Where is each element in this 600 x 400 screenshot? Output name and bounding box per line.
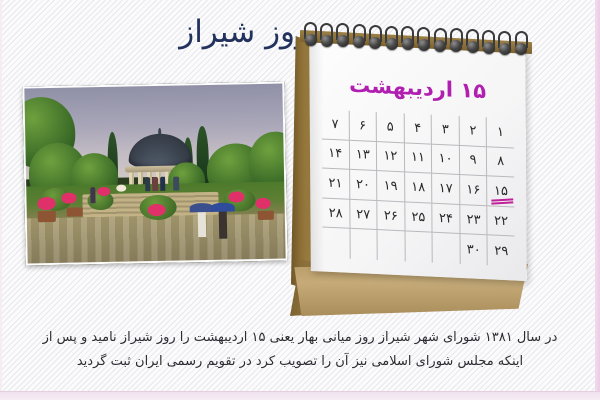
calendar-empty-cell [322, 228, 349, 259]
calendar-day-number: ۱ [497, 125, 504, 140]
calendar-day-number: ۱۷ [439, 181, 453, 197]
photo-flower-pot [67, 207, 83, 216]
spiral-ring [385, 26, 398, 48]
spiral-ring-bead [321, 35, 333, 47]
spiral-ring-bead [515, 43, 527, 55]
calendar-day-number: ۲۰ [356, 177, 370, 193]
calendar-day-cell[interactable]: ۱۹ [376, 171, 404, 202]
spiral-ring [401, 26, 414, 48]
spiral-ring [515, 31, 528, 53]
calendar-day-number: ۱۰ [439, 151, 453, 167]
left-border [0, 0, 2, 400]
calendar-empty-cell [377, 230, 405, 261]
spiral-ring [466, 29, 479, 51]
calendar-day-cell[interactable]: ۲۰ [349, 170, 377, 201]
calendar-day-number: ۱۱ [411, 150, 425, 166]
calendar-day-cell[interactable]: ۲۲ [487, 206, 515, 237]
calendar-day-cell[interactable]: ۷ [322, 109, 349, 140]
calendar-day-cell[interactable]: ۲۶ [376, 201, 404, 232]
calendar-day-number: ۱۹ [384, 178, 398, 194]
calendar-day-cell[interactable]: ۱۳ [348, 140, 376, 171]
photo-flower-pot [258, 211, 274, 220]
calendar-day-number: ۱۴ [328, 146, 342, 162]
calendar-day-number: ۲۷ [356, 207, 370, 223]
calendar-day-cell[interactable]: ۸ [486, 147, 514, 178]
calendar-day-cell[interactable]: ۱۱ [404, 143, 432, 174]
calendar-day-cell[interactable]: ۲۹ [487, 236, 515, 267]
spiral-ring-bead [483, 42, 495, 54]
photo-visitor [160, 177, 166, 191]
calendar-spiral-binding [304, 22, 534, 56]
photo-content [22, 82, 287, 266]
spiral-ring [434, 28, 447, 50]
spiral-ring [498, 31, 511, 53]
calendar-day-cell[interactable]: ۱۰ [431, 144, 459, 175]
calendar-day-cell[interactable]: ۲۱ [322, 169, 349, 200]
slide-canvas: روز شیراز [0, 0, 600, 400]
calendar-day-cell[interactable]: ۱۴ [322, 139, 349, 170]
calendar-empty-cell [404, 232, 432, 263]
calendar-day-cell[interactable]: ۲۷ [349, 200, 377, 231]
calendar-day-cell[interactable]: ۲۵ [404, 202, 432, 233]
highlight-underline [491, 198, 513, 204]
calendar-day-cell[interactable]: ۲۳ [459, 205, 487, 236]
calendar-day-number: ۲ [469, 123, 476, 138]
calendar-day-number: ۳ [442, 122, 449, 137]
calendar-day-cell[interactable]: ۱ [486, 117, 514, 148]
calendar-day-cell[interactable]: ۱۷ [431, 174, 459, 205]
calendar-day-number: ۳۰ [467, 242, 481, 258]
calendar-empty-cell [349, 229, 377, 260]
photo-flower [38, 197, 57, 210]
spiral-ring-bead [386, 38, 398, 50]
calendar-empty-cell [432, 233, 460, 264]
calendar-day-number: ۲۹ [494, 243, 508, 259]
calendar-day-cell[interactable]: ۱۸ [404, 173, 432, 204]
calendar-day-number: ۲۴ [439, 211, 453, 227]
calendar-day-cell[interactable]: ۳۰ [459, 234, 487, 265]
calendar-day-number: ۲۶ [384, 208, 398, 224]
spiral-ring [450, 28, 463, 50]
calendar-day-number: ۹ [470, 153, 477, 168]
spiral-ring-bead [337, 35, 349, 47]
photo-visitor [198, 210, 206, 237]
spiral-ring [336, 23, 349, 45]
photo-visitor [145, 177, 151, 191]
spiral-ring [353, 24, 366, 46]
calendar-day-number: ۲۳ [467, 212, 481, 228]
calendar-day-cell[interactable]: ۲۸ [322, 198, 349, 229]
spiral-ring-bead [402, 38, 414, 50]
spiral-ring-bead [369, 37, 381, 49]
calendar-day-cell[interactable]: ۶ [348, 111, 376, 142]
spiral-ring-bead [418, 39, 430, 51]
spiral-ring-bead [499, 43, 511, 55]
calendar-day-number: ۲۲ [494, 213, 508, 229]
calendar-day-number: ۷ [331, 117, 338, 132]
calendar-day-cell[interactable]: ۵ [376, 112, 404, 143]
calendar-day-cell[interactable]: ۲ [459, 116, 487, 147]
desk-calendar: ۱۵ اردیبهشت ۱۲۳۴۵۶۷۸۹۱۰۱۱۱۲۱۳۱۴۱۵۱۶۱۷۱۸۱… [282, 12, 582, 324]
calendar-grid: ۱۲۳۴۵۶۷۸۹۱۰۱۱۱۲۱۳۱۴۱۵۱۶۱۷۱۸۱۹۲۰۲۱۲۲۲۳۲۴۲… [322, 109, 515, 266]
spiral-ring-bead [353, 36, 365, 48]
caption-text: در سال ۱۳۸۱ شورای شهر شیراز روز میانی به… [30, 326, 570, 374]
right-border [595, 0, 600, 400]
calendar-month-heading: ۱۵ اردیبهشت [309, 71, 525, 105]
spiral-ring [417, 27, 430, 49]
calendar-page: ۱۵ اردیبهشت ۱۲۳۴۵۶۷۸۹۱۰۱۱۱۲۱۳۱۴۱۵۱۶۱۷۱۸۱… [309, 35, 527, 281]
hafez-tomb-photo [22, 82, 287, 266]
photo-visitor [173, 177, 179, 191]
spiral-ring-bead [467, 41, 479, 53]
spiral-ring [369, 25, 382, 47]
spiral-ring [320, 23, 333, 45]
photo-visitor [219, 210, 227, 239]
calendar-day-number: ۱۶ [466, 182, 480, 198]
spiral-ring-bead [450, 40, 462, 52]
calendar-day-cell[interactable]: ۹ [459, 146, 487, 177]
calendar-day-number: ۱۸ [411, 180, 425, 196]
calendar-day-number: ۲۵ [411, 209, 425, 225]
spiral-ring-bead [305, 34, 317, 46]
calendar-day-number: ۶ [359, 118, 366, 133]
calendar-day-number: ۱۲ [383, 149, 397, 165]
spiral-ring [482, 30, 495, 52]
spiral-ring-bead [434, 40, 446, 52]
photo-flower-pot [38, 211, 57, 222]
photo-wet-pavement [25, 214, 288, 266]
calendar-day-cell[interactable]: ۲۴ [432, 203, 460, 234]
calendar-day-cell[interactable]: ۴ [403, 113, 431, 144]
calendar-day-cell[interactable]: ۱۶ [459, 175, 487, 206]
bottom-border [0, 391, 600, 400]
calendar-day-number: ۸ [497, 154, 504, 169]
calendar-day-cell[interactable]: ۱۲ [376, 142, 404, 173]
calendar-day-cell[interactable]: ۳ [431, 115, 459, 146]
calendar-day-number: ۱۵ [494, 184, 508, 200]
photo-umbrella [211, 202, 235, 211]
calendar-day-number: ۲۱ [328, 176, 342, 192]
photo-visitor [90, 187, 96, 203]
calendar-day-number: ۴ [414, 121, 421, 136]
calendar-day-cell[interactable]: ۱۵ [487, 176, 515, 207]
photo-visitor [152, 177, 158, 191]
calendar-day-number: ۵ [387, 119, 394, 134]
calendar-day-number: ۱۳ [356, 147, 370, 163]
calendar-day-number: ۲۸ [329, 205, 343, 221]
spiral-ring [304, 22, 317, 44]
